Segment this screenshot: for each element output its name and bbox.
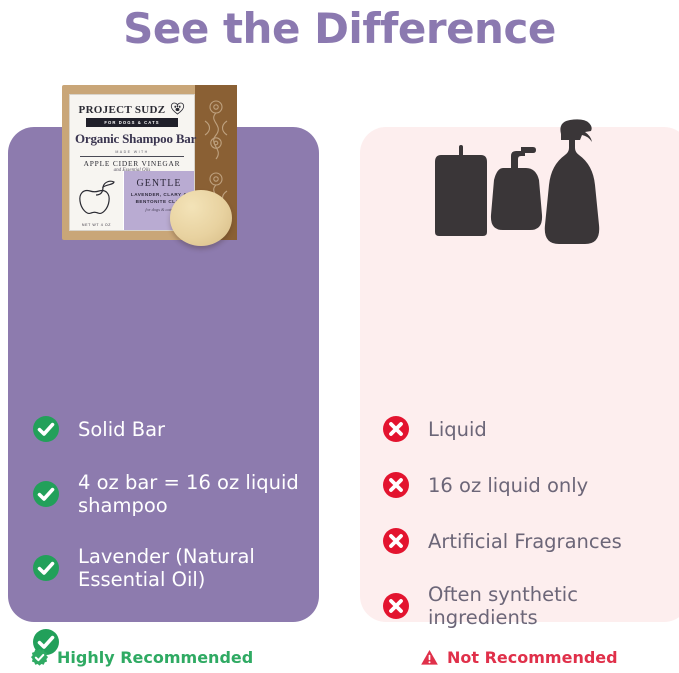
warning-triangle-icon [420, 648, 439, 667]
label-top-section: PROJECT SUDZ FOR DOGS & CATS Organic Sha… [70, 95, 194, 173]
variant-name: APPLE CIDER VINEGAR [75, 159, 189, 168]
paw-heart-icon [170, 101, 185, 115]
footer-label: Not Recommended [447, 648, 618, 667]
label-divider [80, 156, 184, 157]
plain-bottle-icon [435, 145, 487, 236]
apples-icon [70, 171, 124, 221]
label-ribbon: FOR DOGS & CATS [86, 118, 178, 127]
page-title: See the Difference [0, 4, 679, 53]
plastic-bottles-image [430, 112, 605, 244]
verified-badge-icon [30, 648, 49, 667]
brand-name: PROJECT SUDZ [75, 101, 189, 116]
spray-bottle-icon [545, 119, 599, 244]
soap-bar-image [170, 190, 232, 246]
pump-bottle-icon [491, 147, 542, 230]
highly-recommended-badge: Highly Recommended [30, 648, 253, 667]
net-weight: NET WT 4 OZ [70, 223, 123, 227]
not-recommended-badge: Not Recommended [420, 648, 618, 667]
footer-label: Highly Recommended [57, 648, 253, 667]
product-name: Organic Shampoo Bar [75, 131, 189, 147]
gentle-label: GENTLE [124, 178, 194, 189]
apple-illustration: NET WT 4 OZ [70, 171, 124, 230]
made-with-label: MADE WITH [75, 150, 189, 154]
